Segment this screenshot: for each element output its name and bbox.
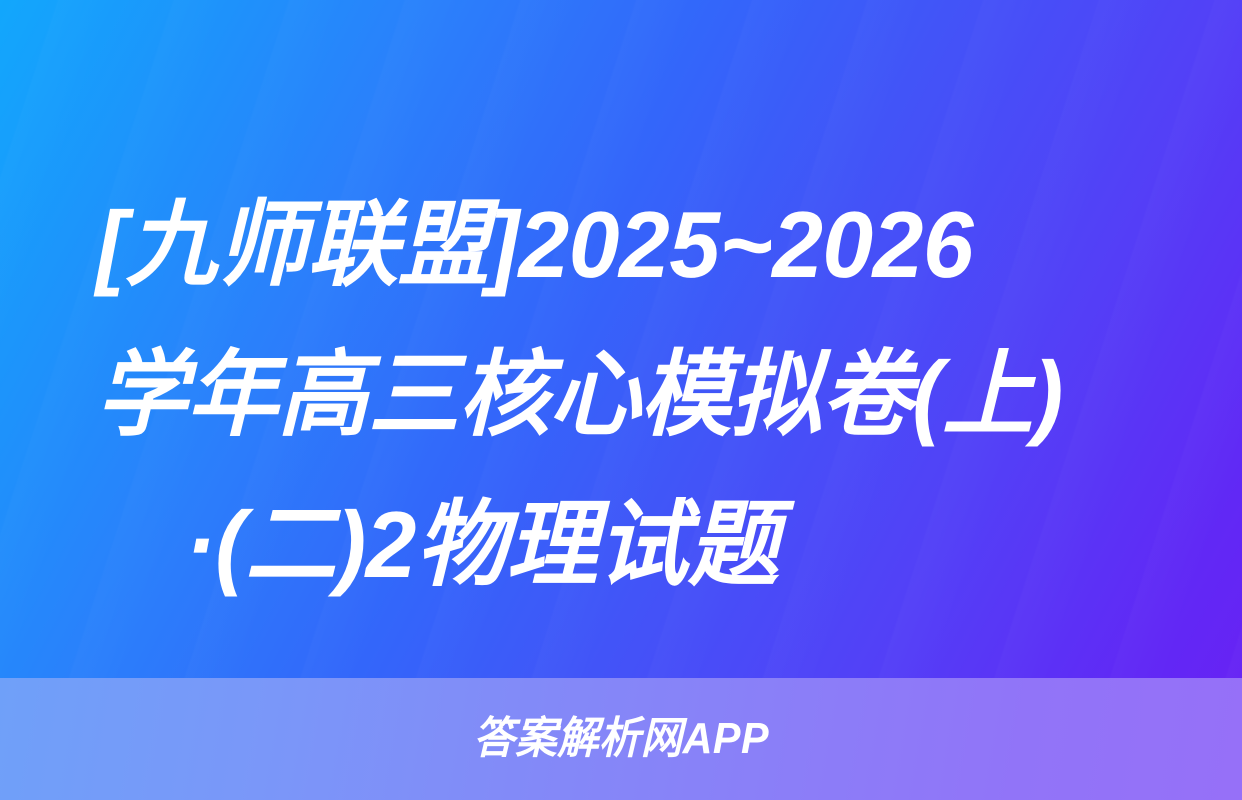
poster-canvas: [九师联盟]2025~2026 学年高三核心模拟卷(上) ·(二)2物理试题 答… (0, 0, 1242, 800)
title-line-1: [九师联盟]2025~2026 (96, 170, 1134, 320)
page-title: [九师联盟]2025~2026 学年高三核心模拟卷(上) ·(二)2物理试题 (96, 170, 1166, 620)
app-watermark-label: 答案解析网APP (473, 717, 769, 761)
title-line-2: 学年高三核心模拟卷(上) (96, 320, 1134, 470)
footer-watermark-band: 答案解析网APP (0, 678, 1242, 800)
title-line-3: ·(二)2物理试题 (96, 470, 1134, 620)
